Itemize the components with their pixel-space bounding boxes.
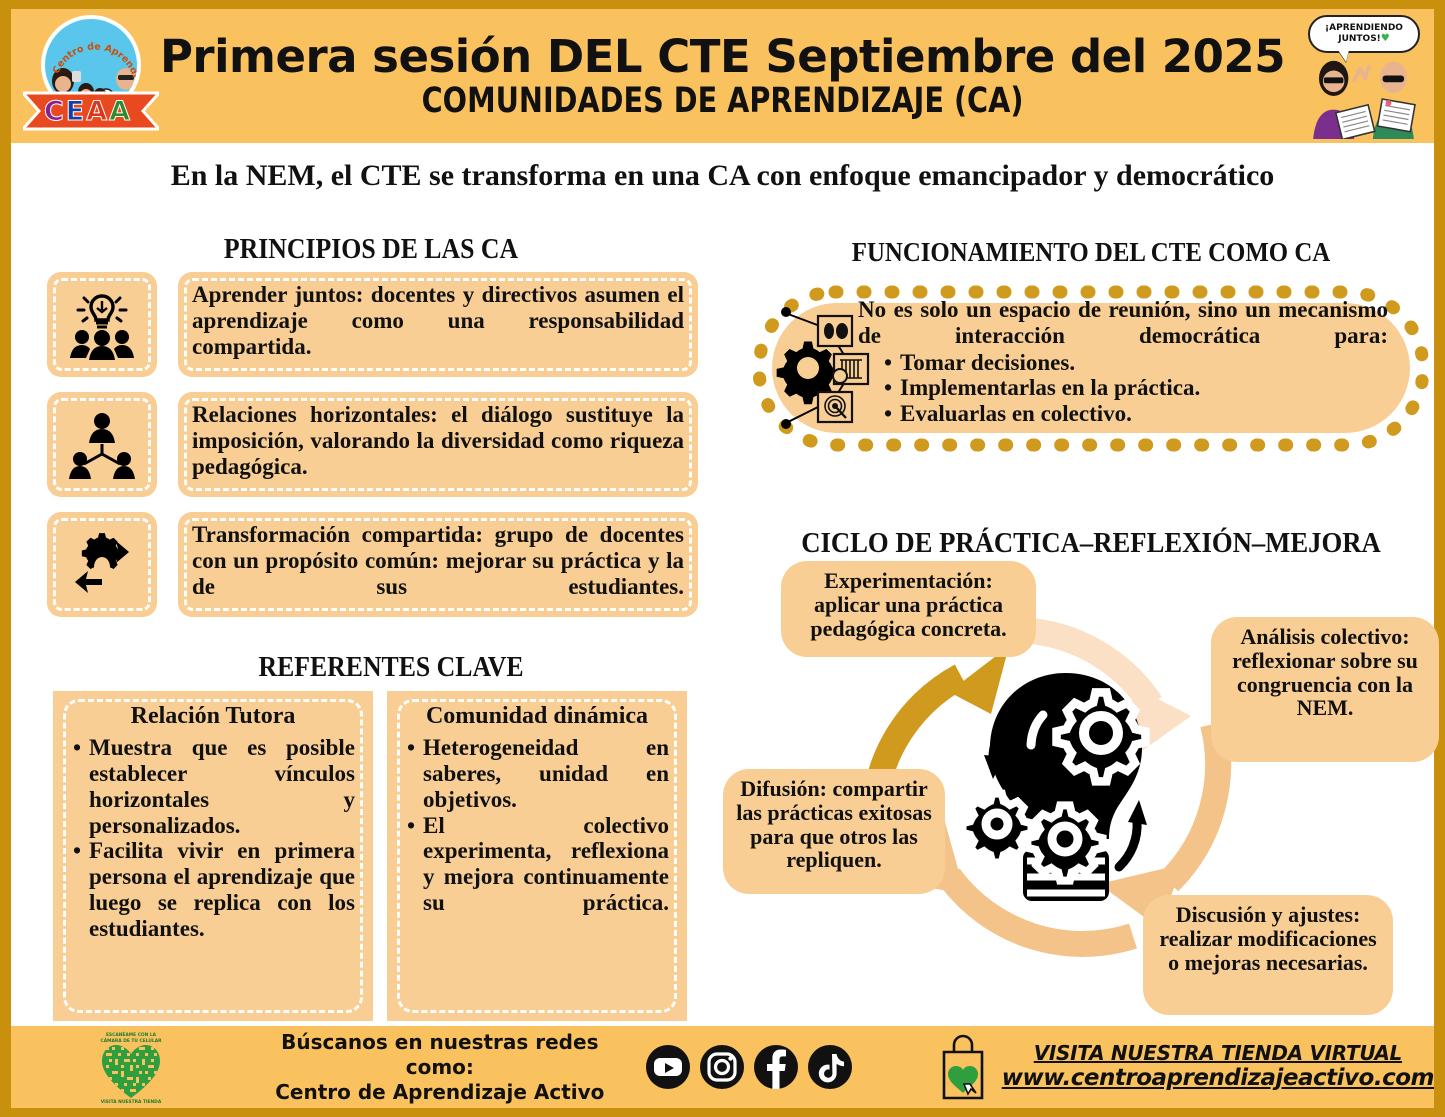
svg-text:Centro de Aprendizaje Activo: Centro de Aprendizaje Activo [45,19,141,79]
referente-card-1: Relación Tutora Muestra que es posible e… [53,691,373,1021]
ciclo-step-experimentacion: Experimentación: aplicar una práctica pe… [781,561,1036,657]
two-teachers-icon [1298,51,1428,139]
principio-icon-2 [47,392,157,497]
speech-bubble-line2: JUNTOS! [1338,34,1381,44]
logo-letter-a1: A [86,96,107,127]
facebook-icon[interactable] [754,1045,798,1089]
header-titles: Primera sesión DEL CTE Septiembre del 20… [160,34,1285,119]
redes-line-1: Búscanos en nuestras redes como: [252,1030,628,1080]
logo-ceaa-letters: C E A A [19,91,155,131]
speech-bubble-line1: ¡APRENDIENDO [1325,23,1403,33]
logo-letter-c: C [44,96,64,127]
logo-letter-a2: A [109,96,130,127]
svg-text:CÁMARA DE TU CELULAR: CÁMARA DE TU CELULAR [101,1037,163,1044]
referente-2-bullet-2: El colectivo experimenta, reflexiona y m… [405,813,669,916]
funcionamiento-bullets: Tomar decisiones. Implementarlas en la p… [900,350,1388,427]
referente-bullets-2: Heterogeneidad en saberes, unidad en obj… [405,735,669,915]
referente-card-2: Comunidad dinámica Heterogeneidad en sab… [387,691,687,1021]
principio-icon-1 [47,272,157,377]
youtube-icon[interactable] [646,1045,690,1089]
referente-1-bullet-1: Muestra que es posible establecer víncul… [71,735,355,838]
referente-bullets-1: Muestra que es posible establecer víncul… [71,735,355,941]
redes-text: Búscanos en nuestras redes como: Centro … [252,1030,628,1105]
principio-icon-3 [47,512,157,617]
infographic-page: Centro de Aprendizaje Activo C E A A Pri… [0,0,1445,1117]
principios-title: PRINCIPIOS DE LAS CA [95,234,647,266]
ciclo-title: CICLO DE PRÁCTICA–REFLEXIÓN–MEJORA [769,527,1413,560]
footer-band: ESCANÉAME CON LA CÁMARA DE TU CELULAR [11,1026,1434,1108]
funcionamiento-paragraph: No es solo un espacio de reunión, sino u… [858,297,1388,349]
heart-icon: ♥ [1381,33,1390,44]
lead-statement: En la NEM, el CTE se transforma en una C… [11,159,1434,193]
store-block[interactable]: VISITA NUESTRA TIENDA VIRTUAL www.centro… [930,1032,1434,1102]
tiktok-icon[interactable] [808,1045,852,1089]
network-people-icon [67,410,137,480]
page-title: Primera sesión DEL CTE Septiembre del 20… [160,34,1285,79]
principio-text-1: Aprender juntos: docentes y directivos a… [178,272,698,370]
referentes-title: REFERENTES CLAVE [115,652,667,684]
lightbulb-group-icon [67,290,137,360]
instagram-icon[interactable] [700,1045,744,1089]
referente-heading-2: Comunidad dinámica [405,703,669,729]
referente-1-bullet-2: Facilita vivir en primera persona el apr… [71,838,355,941]
logo-letter-e: E [66,96,84,127]
funcionamiento-pill: No es solo un espacio de reunión, sino u… [746,281,1436,456]
gear-arrows-icon [66,529,138,601]
funcionamiento-bullet-3: Evaluarlas en colectivo. [900,401,1388,427]
store-line-1: VISITA NUESTRA TIENDA VIRTUAL [1002,1042,1434,1066]
svg-text:ESCANÉAME CON LA: ESCANÉAME CON LA [106,1030,157,1038]
header-band: Centro de Aprendizaje Activo C E A A Pri… [11,9,1434,143]
teachers-illustration: ¡APRENDIENDO JUNTOS!♥ [1298,11,1428,139]
referente-body-2: Comunidad dinámica Heterogeneidad en sab… [387,691,687,916]
store-line-2[interactable]: www.centroaprendizajeactivo.com [1002,1065,1434,1092]
principio-card-2: Relaciones horizontales: el diálogo sust… [178,392,698,497]
funcionamiento-bullet-2: Implementarlas en la práctica. [900,375,1388,401]
funcionamiento-title: FUNCIONAMIENTO DEL CTE COMO CA [774,237,1409,268]
qr-block[interactable]: ESCANÉAME CON LA CÁMARA DE TU CELULAR [11,1030,252,1104]
page-subtitle: COMUNIDADES DE APRENDIZAJE (CA) [261,84,1184,119]
ciclo-step-discusion: Discusión y ajustes: realizar modificaci… [1143,895,1393,1015]
principio-card-3: Transformación compartida: grupo de doce… [178,512,698,617]
store-text: VISITA NUESTRA TIENDA VIRTUAL www.centro… [1002,1042,1434,1093]
qr-heart-icon[interactable]: ESCANÉAME CON LA CÁMARA DE TU CELULAR [94,1030,168,1104]
funcionamiento-content: No es solo un espacio de reunión, sino u… [858,297,1388,427]
ceaa-logo: Centro de Aprendizaje Activo C E A A [19,11,159,139]
referente-2-bullet-1: Heterogeneidad en saberes, unidad en obj… [405,735,669,812]
svg-text:VISITA NUESTRA TIENDA: VISITA NUESTRA TIENDA [101,1099,162,1104]
referente-heading-1: Relación Tutora [71,703,355,729]
social-icons [646,1045,852,1089]
referente-body-1: Relación Tutora Muestra que es posible e… [53,691,373,941]
principio-text-2: Relaciones horizontales: el diálogo sust… [178,392,698,490]
redes-line-2: Centro de Aprendizaje Activo [252,1080,628,1105]
speech-bubble: ¡APRENDIENDO JUNTOS!♥ [1308,15,1420,53]
funcionamiento-bullet-1: Tomar decisiones. [900,350,1388,376]
principio-card-1: Aprender juntos: docentes y directivos a… [178,272,698,377]
principio-text-3: Transformación compartida: grupo de doce… [178,512,698,610]
ciclo-step-difusion: Difusión: compartir las prácticas exitos… [723,769,945,894]
lightbulb-gears-icon [951,649,1181,939]
shopping-bag-heart-icon [930,1032,996,1102]
ciclo-step-analisis: Análisis colectivo: reflexionar sobre su… [1211,617,1439,762]
